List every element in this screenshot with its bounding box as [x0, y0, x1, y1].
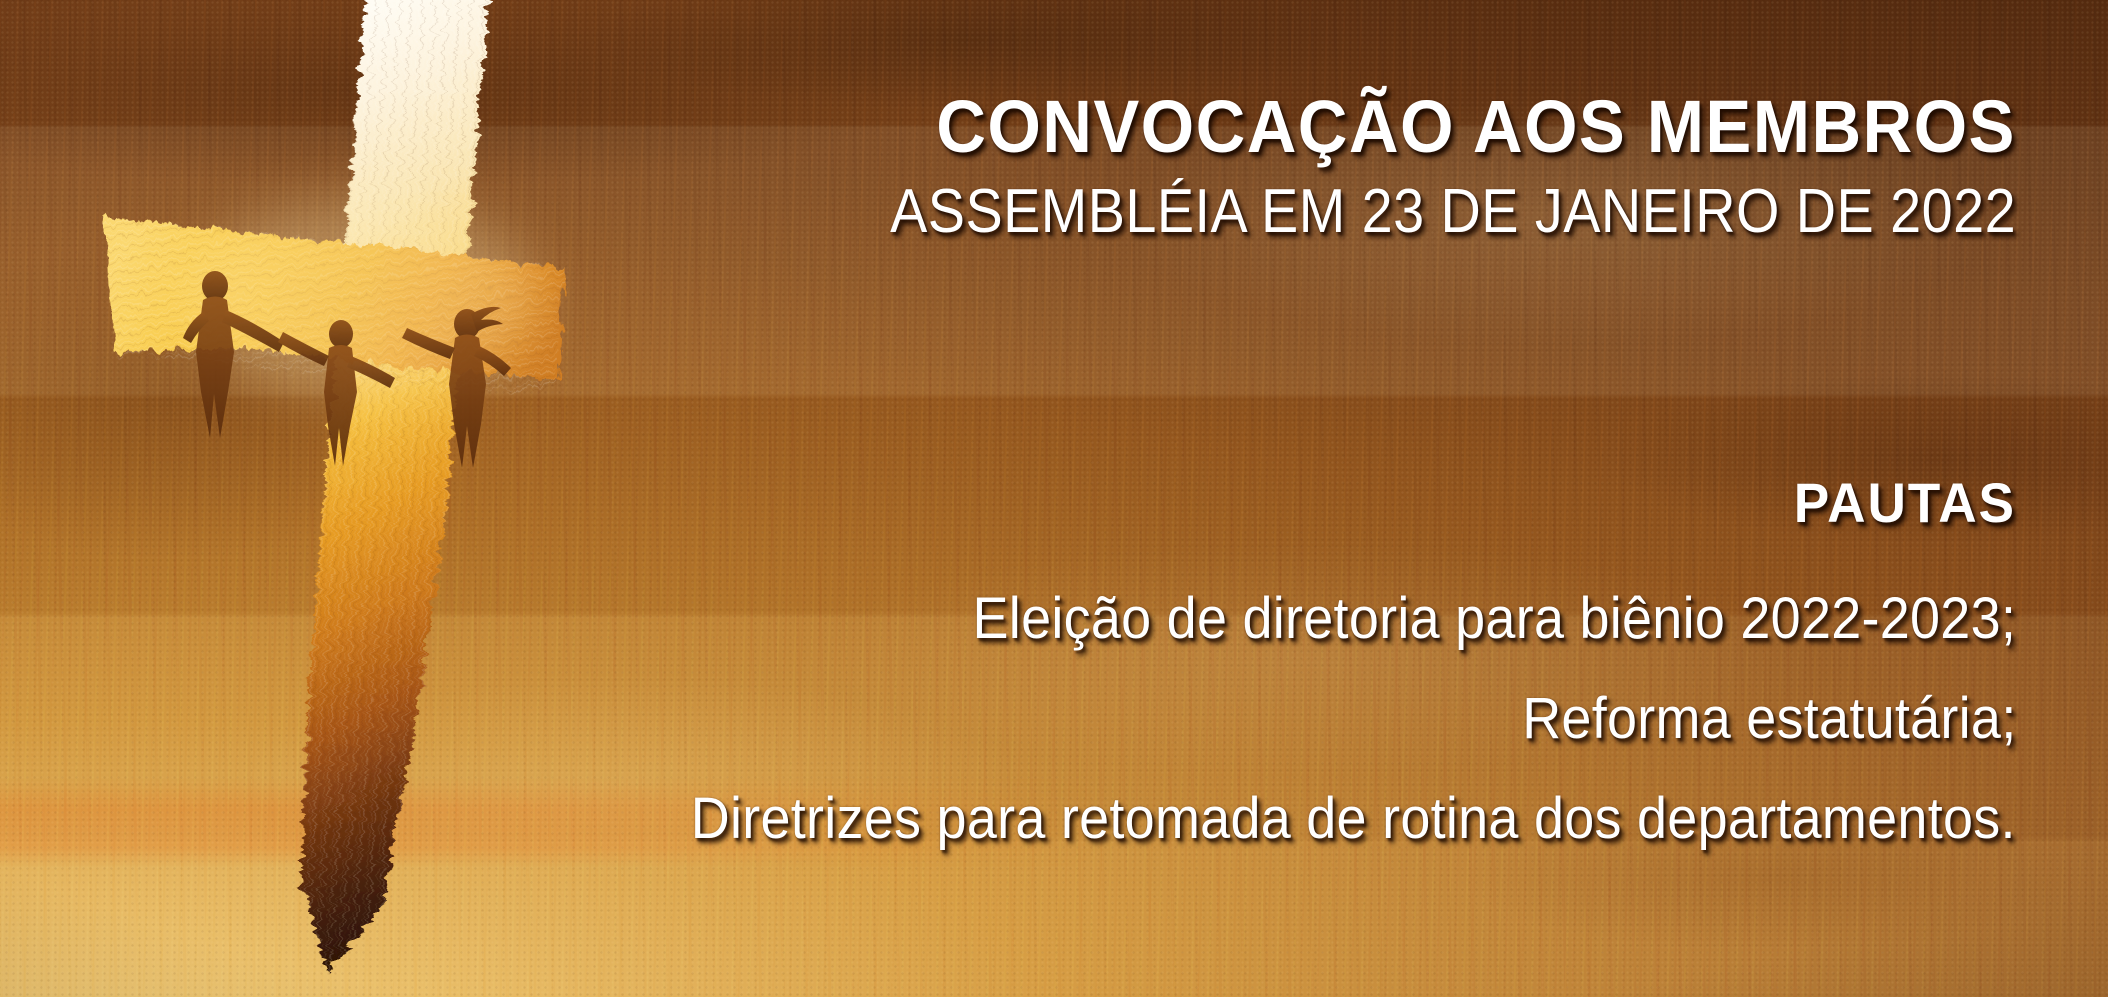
agenda-item: Eleição de diretoria para biênio 2022-20… — [972, 585, 2016, 652]
agenda-heading: PAUTAS — [1794, 470, 2016, 535]
page-title: CONVOCAÇÃO AOS MEMBROS — [936, 84, 2016, 169]
event-announcement-banner: CONVOCAÇÃO AOS MEMBROS ASSEMBLÉIA EM 23 … — [0, 0, 2108, 997]
page-subtitle: ASSEMBLÉIA EM 23 DE JANEIRO DE 2022 — [890, 176, 2016, 247]
agenda-item: Diretrizes para retomada de rotina dos d… — [691, 785, 2016, 852]
text-content-layer: CONVOCAÇÃO AOS MEMBROS ASSEMBLÉIA EM 23 … — [0, 0, 2108, 997]
agenda-item: Reforma estatutária; — [1522, 685, 2016, 752]
